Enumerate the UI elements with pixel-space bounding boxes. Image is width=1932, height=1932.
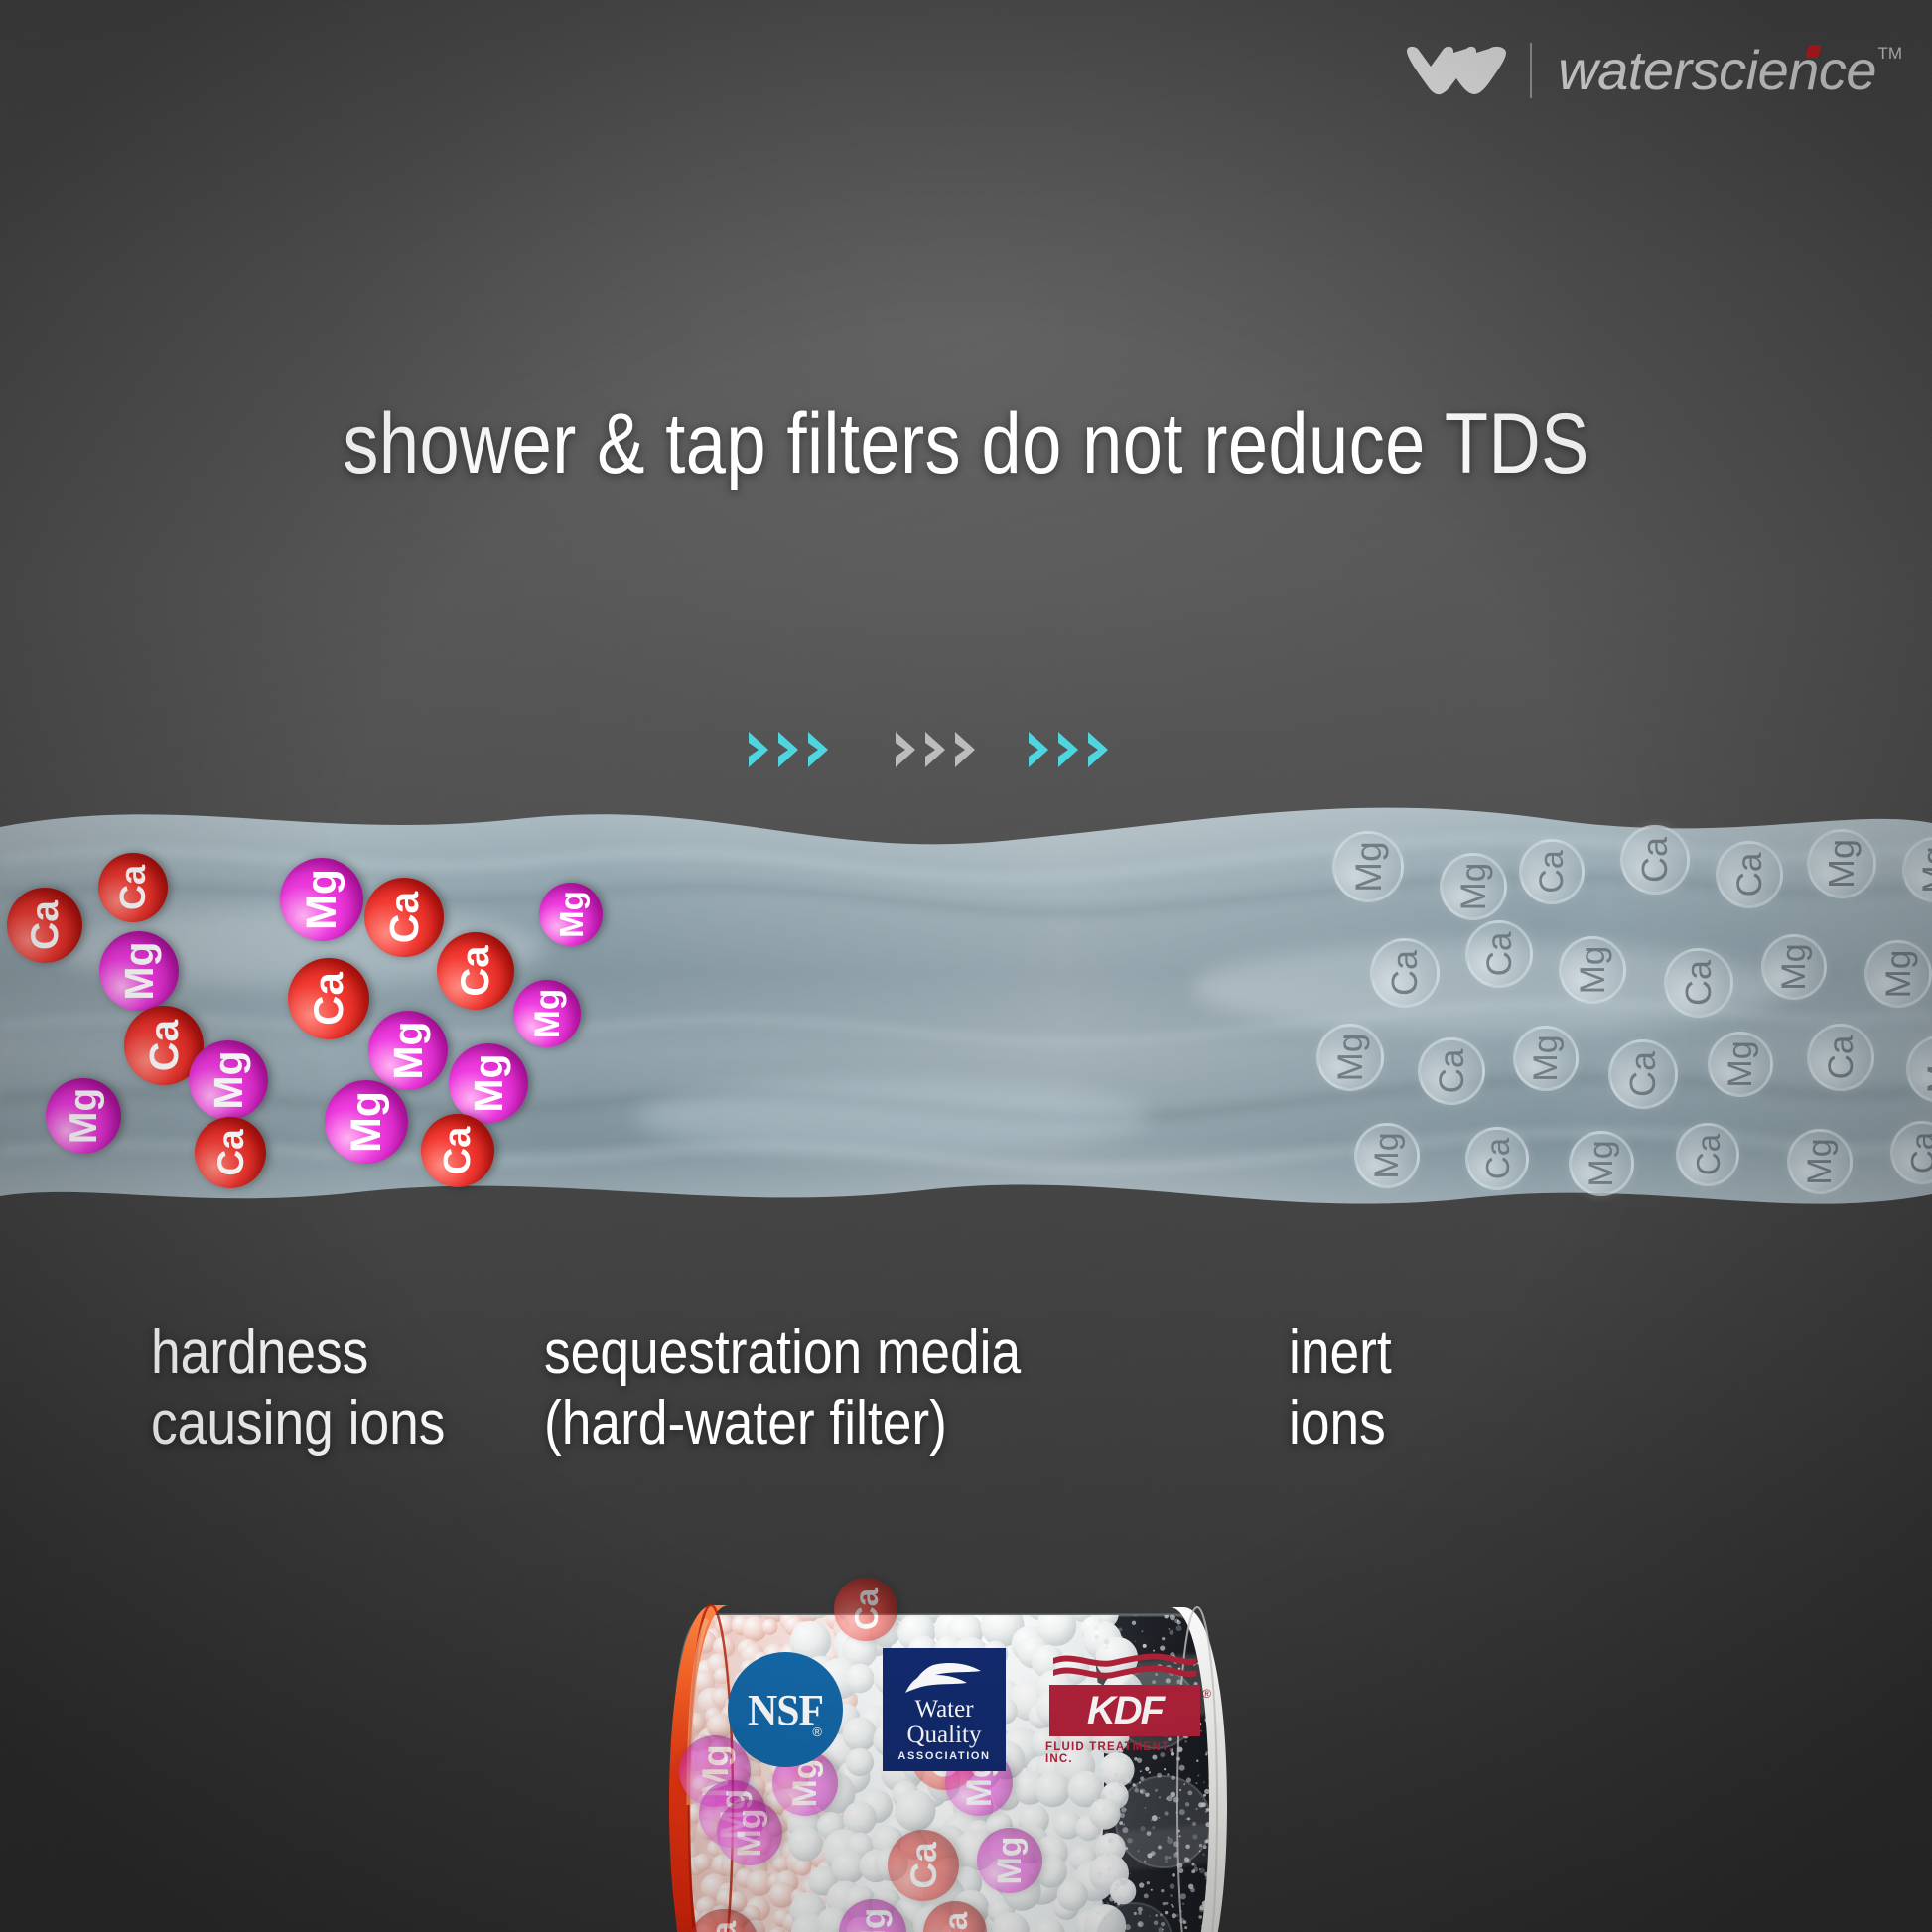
carbon-speck: [1243, 1863, 1245, 1864]
ion-label: Ca: [1824, 1035, 1859, 1080]
ion-ca-inert: Ca: [1608, 1039, 1678, 1109]
carbon-speck: [1121, 1636, 1123, 1638]
ion-label: Ca: [850, 1588, 883, 1630]
ion-label: Ca: [308, 972, 349, 1026]
ion-label: Mg: [1333, 1034, 1368, 1082]
carbon-speck: [1211, 1624, 1213, 1626]
carbon-speck: [1259, 1883, 1261, 1885]
ion-ca-ca: Ca: [288, 958, 369, 1039]
carbon-speck: [1195, 1782, 1197, 1784]
carbon-speck: [1104, 1639, 1110, 1645]
page-title: shower & tap filters do not reduce TDS: [155, 401, 1778, 486]
ion-ca-ca: Ca: [437, 932, 514, 1010]
chevron-group-outlet: [1027, 730, 1112, 769]
carbon-speck: [1240, 1847, 1245, 1852]
caption-hardness-line1: hardness: [151, 1318, 445, 1389]
carbon-speck: [1254, 1808, 1257, 1811]
carbon-speck: [1118, 1896, 1122, 1900]
carbon-speck: [1260, 1601, 1263, 1604]
filter-bead: [773, 1591, 800, 1594]
carbon-speck: [1130, 1873, 1131, 1874]
ion-label: Mg: [65, 1088, 103, 1144]
ion-label: Mg: [388, 1021, 429, 1079]
carbon-speck: [1120, 1880, 1126, 1886]
ion-label: Ca: [1625, 1051, 1661, 1097]
carbon-speck: [1109, 1896, 1114, 1901]
infographic-canvas: CaMgMgCaCaMgCaMgMgMgCaMgCaCaCaMgMg MgMgC…: [0, 0, 1932, 1932]
carbon-speck: [1132, 1596, 1138, 1602]
ion-label: Mg: [1456, 863, 1491, 911]
carbon-speck: [1230, 1863, 1233, 1866]
filter-bead: [962, 1591, 989, 1611]
kdf-registered-mark: ®: [1202, 1687, 1211, 1701]
kdf-logo-box: KDF ®: [1049, 1685, 1200, 1736]
ion-label: Ca: [905, 1842, 942, 1888]
ion-label: Mg: [1350, 841, 1387, 892]
certification-badges: NSF ® Water Quality ASSOCIATION KDF ® FL…: [0, 1648, 1932, 1771]
carbon-speck: [1172, 1873, 1175, 1877]
carbon-speck: [1232, 1850, 1237, 1855]
ion-ca-ca: Ca: [888, 1830, 959, 1901]
chevron-right-icon: [806, 730, 832, 769]
carbon-speck: [1238, 1821, 1240, 1823]
carbon-speck: [1198, 1915, 1202, 1919]
wqa-wave-icon: [905, 1661, 983, 1695]
carbon-speck: [1105, 1776, 1109, 1780]
filter-bead: [671, 1619, 687, 1635]
carbon-speck: [1259, 1929, 1261, 1931]
carbon-speck: [1259, 1860, 1263, 1865]
ion-mg-inert: Mg: [1864, 940, 1932, 1008]
ion-mg-inert: Mg: [1354, 1123, 1420, 1188]
ion-mg-mg: Mg: [46, 1078, 121, 1154]
filter-bead: [939, 1591, 969, 1614]
carbon-speck: [1094, 1635, 1098, 1639]
ion-label: Ca: [1481, 1138, 1514, 1179]
carbon-speck: [1092, 1819, 1097, 1824]
ion-mg-mg: Mg: [449, 1043, 528, 1123]
carbon-speck: [1155, 1604, 1160, 1609]
carbon-speck: [1234, 1883, 1237, 1886]
carbon-speck: [1240, 1623, 1243, 1626]
chevron-right-icon: [1027, 730, 1052, 769]
ion-label: Ca: [115, 865, 151, 910]
carbon-speck: [1236, 1634, 1240, 1638]
ion-label: Mg: [993, 1836, 1027, 1884]
carbon-speck: [1110, 1605, 1116, 1611]
carbon-speck: [1109, 1790, 1115, 1796]
carbon-speck: [1203, 1595, 1209, 1601]
carbon-speck: [1227, 1916, 1229, 1918]
carbon-speck: [1217, 1591, 1223, 1594]
filter-bead: [964, 1591, 993, 1595]
brand-wordmark: waterscience: [1558, 39, 1876, 101]
chevron-right-icon: [923, 730, 949, 769]
carbon-speck: [1243, 1640, 1245, 1642]
carbon-speck: [1234, 1801, 1236, 1803]
brand-trademark: TM: [1877, 45, 1902, 62]
carbon-speck: [1213, 1609, 1215, 1611]
carbon-speck: [1104, 1893, 1106, 1895]
carbon-speck: [1260, 1810, 1262, 1812]
chevron-right-icon: [1056, 730, 1082, 769]
carbon-speck: [1233, 1799, 1238, 1804]
carbon-speck: [1098, 1620, 1103, 1625]
filter-bead: [1108, 1591, 1138, 1595]
filter-bead: [761, 1619, 777, 1635]
carbon-speck: [1232, 1909, 1235, 1912]
carbon-speck: [1149, 1771, 1151, 1773]
caption-inert-line2: ions: [1289, 1389, 1392, 1459]
carbon-speck: [1150, 1598, 1152, 1600]
filter-bead: [705, 1591, 724, 1607]
kdf-badge[interactable]: KDF ® FLUID TREATMENT, INC.: [1045, 1652, 1204, 1767]
carbon-speck: [1121, 1871, 1124, 1874]
carbon-speck: [1197, 1774, 1199, 1776]
caption-hardness-line2: causing ions: [151, 1389, 445, 1459]
carbon-speck: [1106, 1902, 1108, 1904]
carbon-speck: [1203, 1782, 1205, 1784]
carbon-speck: [1227, 1611, 1233, 1617]
carbon-speck: [1240, 1591, 1244, 1593]
carbon-speck: [1218, 1591, 1221, 1593]
ion-label: Ca: [212, 1129, 249, 1175]
caption-media-line2: (hard-water filter): [544, 1389, 1021, 1459]
ion-ca-ca: Ca: [421, 1114, 494, 1187]
ion-label: Mg: [208, 1050, 249, 1109]
carbon-speck: [1180, 1893, 1186, 1899]
carbon-speck: [1107, 1876, 1109, 1878]
carbon-speck: [1161, 1889, 1164, 1892]
carbon-speck: [1182, 1903, 1184, 1905]
ion-ca-ca: Ca: [834, 1578, 897, 1641]
carbon-speck: [1097, 1887, 1101, 1891]
carbon-speck: [1114, 1888, 1117, 1891]
carbon-speck: [1227, 1813, 1232, 1818]
carbon-speck: [1186, 1599, 1191, 1604]
carbon-speck: [1115, 1883, 1120, 1888]
flow-direction-chevrons: [747, 730, 1183, 789]
filter-bead: [1032, 1591, 1067, 1597]
carbon-speck: [1101, 1794, 1107, 1800]
carbon-speck: [1244, 1820, 1247, 1823]
carbon-speck: [1150, 1600, 1156, 1606]
ion-ca-inert: Ca: [1519, 839, 1585, 904]
filter-bead: [668, 1591, 688, 1606]
carbon-speck: [1177, 1620, 1179, 1622]
carbon-speck: [1246, 1889, 1252, 1895]
carbon-speck: [1250, 1870, 1254, 1874]
carbon-speck: [1237, 1594, 1242, 1599]
brand-logo[interactable]: waterscience TM: [1405, 34, 1876, 107]
carbon-speck: [1190, 1888, 1195, 1893]
carbon-speck: [1114, 1876, 1116, 1878]
brand-wordmark-wrap: waterscience TM: [1558, 43, 1876, 98]
carbon-speck: [1117, 1599, 1122, 1604]
ion-label: Ca: [706, 1921, 742, 1932]
carbon-speck: [1231, 1642, 1235, 1646]
carbon-speck: [1163, 1902, 1166, 1905]
ion-ca-inert: Ca: [1620, 825, 1690, 895]
ion-label: Mg: [530, 989, 565, 1039]
carbon-speck: [1154, 1602, 1158, 1606]
ion-mg-mg: Mg: [977, 1828, 1042, 1893]
carbon-speck: [1176, 1625, 1182, 1631]
caption-hardness-ions: hardness causing ions: [151, 1318, 445, 1458]
ion-mg-mg: Mg: [539, 883, 603, 946]
ion-ca-ca: Ca: [7, 888, 82, 963]
ion-ca-inert: Ca: [1676, 1123, 1739, 1186]
carbon-speck: [1139, 1882, 1144, 1887]
caption-media-line1: sequestration media: [544, 1318, 1021, 1389]
carbon-speck: [1255, 1906, 1257, 1908]
carbon-speck: [1199, 1868, 1201, 1870]
carbon-speck: [1236, 1787, 1239, 1790]
carbon-speck: [1165, 1911, 1168, 1914]
carbon-speck: [1135, 1602, 1139, 1606]
carbon-speck: [1220, 1920, 1225, 1925]
filter-bead: [802, 1591, 830, 1597]
carbon-speck: [1144, 1599, 1149, 1604]
carbon-speck: [1244, 1785, 1247, 1788]
carbon-speck: [1128, 1592, 1134, 1598]
filter-bead: [755, 1591, 782, 1602]
ion-label: Mg: [119, 941, 160, 1000]
carbon-speck: [1204, 1591, 1210, 1597]
ion-ca-ca: Ca: [195, 1117, 266, 1188]
carbon-speck: [1100, 1824, 1106, 1830]
carbon-speck: [1191, 1869, 1195, 1873]
carbon-speck: [1231, 1774, 1235, 1778]
carbon-speck: [1228, 1865, 1230, 1867]
ion-mg-inert: Mg: [1440, 853, 1507, 920]
ion-label: Mg: [1824, 839, 1860, 889]
carbon-speck: [1231, 1909, 1237, 1915]
carbon-speck: [1114, 1901, 1116, 1903]
water-quality-association-badge[interactable]: Water Quality ASSOCIATION: [883, 1648, 1006, 1771]
carbon-speck: [1135, 1641, 1136, 1642]
nsf-registered-mark: ®: [812, 1725, 822, 1739]
chevron-right-icon: [1086, 730, 1112, 769]
carbon-speck: [1137, 1592, 1141, 1596]
ion-ca-inert: Ca: [1465, 1127, 1529, 1190]
ion-mg-inert: Mg: [1332, 831, 1404, 902]
ion-mg-mg: Mg: [513, 980, 581, 1047]
carbon-speck: [1211, 1613, 1216, 1618]
ion-label: Ca: [1535, 850, 1569, 893]
carbon-speck: [1166, 1902, 1169, 1905]
caption-inert-ions: inert ions: [1289, 1318, 1392, 1458]
ion-label: Mg: [1923, 1045, 1932, 1094]
carbon-speck: [1099, 1609, 1103, 1613]
ion-label: Ca: [1906, 1132, 1932, 1173]
carbon-speck: [1151, 1889, 1153, 1891]
ion-ca-ca: Ca: [364, 878, 444, 957]
filter-bead: [816, 1591, 835, 1607]
chevron-right-icon: [894, 730, 919, 769]
filter-bead: [1057, 1880, 1088, 1911]
carbon-speck: [1168, 1628, 1170, 1630]
ion-label: Ca: [439, 1127, 477, 1175]
carbon-speck: [1183, 1920, 1187, 1924]
ion-label: Ca: [456, 945, 495, 996]
ion-mg-inert: Mg: [1559, 936, 1626, 1004]
carbon-speck: [1093, 1901, 1096, 1904]
filter-bead: [929, 1591, 958, 1600]
carbon-speck: [1112, 1591, 1115, 1594]
carbon-speck: [1170, 1596, 1172, 1598]
carbon-speck: [1095, 1595, 1098, 1598]
filter-bead: [673, 1591, 696, 1598]
wqa-line1: Water: [914, 1698, 973, 1723]
filter-bead: [796, 1591, 822, 1610]
carbon-speck: [1170, 1883, 1175, 1889]
carbon-speck: [1256, 1852, 1260, 1856]
carbon-speck: [1259, 1800, 1262, 1803]
ion-label: Mg: [1724, 1040, 1757, 1087]
carbon-speck: [1246, 1867, 1248, 1869]
carbon-speck: [1147, 1881, 1150, 1884]
carbon-speck: [1246, 1623, 1248, 1625]
chevron-group-middle: [894, 730, 979, 769]
nsf-badge[interactable]: NSF ®: [728, 1652, 843, 1767]
carbon-speck: [1228, 1628, 1233, 1633]
ion-label: Ca: [1435, 1049, 1469, 1094]
filter-bead: [729, 1591, 747, 1593]
carbon-speck: [1170, 1630, 1174, 1635]
carbon-speck: [1092, 1779, 1096, 1783]
ion-mg-mg: Mg: [99, 931, 179, 1011]
carbon-speck: [1172, 1913, 1176, 1918]
carbon-speck: [1114, 1773, 1119, 1778]
ion-label: Ca: [144, 1020, 185, 1071]
ion-label: Mg: [1529, 1035, 1563, 1081]
ion-mg-mg: Mg: [189, 1040, 268, 1120]
ion-ca-inert: Ca: [1807, 1024, 1874, 1091]
carbon-speck: [1098, 1599, 1103, 1604]
kdf-subtitle: FLUID TREATMENT, INC.: [1045, 1741, 1204, 1765]
filter-bead: [667, 1926, 673, 1932]
ion-mg-inert: Mg: [1513, 1026, 1579, 1091]
filter-bead: [667, 1871, 670, 1897]
ion-mg-mg: Mg: [717, 1800, 782, 1865]
filter-bead: [667, 1845, 668, 1869]
carbon-speck: [1250, 1828, 1254, 1832]
filter-bead: [762, 1591, 786, 1613]
carbon-speck: [1261, 1811, 1263, 1814]
ion-label: Mg: [1918, 846, 1932, 893]
carbon-speck: [1169, 1607, 1171, 1609]
wqa-line2: Quality: [907, 1723, 982, 1747]
ion-label: Ca: [1387, 950, 1423, 996]
chevron-right-icon: [776, 730, 802, 769]
carbon-speck: [1097, 1912, 1099, 1914]
waterscience-w-icon: [1405, 45, 1508, 96]
carbon-speck: [1211, 1625, 1215, 1629]
ion-ca-ca: Ca: [98, 853, 168, 922]
ion-label: Ca: [384, 892, 425, 943]
ion-label: Mg: [1803, 1138, 1837, 1184]
filter-bead: [675, 1595, 694, 1614]
ion-label: Ca: [1681, 960, 1717, 1006]
carbon-speck: [1228, 1788, 1234, 1794]
ion-label: Ca: [1692, 1134, 1725, 1175]
ion-mg-inert: Mg: [1807, 829, 1876, 898]
filter-bead: [1000, 1591, 1042, 1601]
carbon-speck: [1252, 1808, 1255, 1811]
ion-label: Mg: [1585, 1140, 1618, 1186]
carbon-speck: [1251, 1835, 1253, 1837]
carbon-speck: [1244, 1906, 1248, 1910]
caption-inert-line1: inert: [1289, 1318, 1392, 1389]
filter-bead: [1035, 1772, 1070, 1807]
carbon-speck: [1196, 1600, 1200, 1604]
carbon-speck: [1157, 1605, 1161, 1609]
carbon-speck: [1226, 1919, 1228, 1921]
chevron-group-inlet: [747, 730, 832, 769]
carbon-speck: [1172, 1905, 1174, 1908]
carbon-speck: [1233, 1876, 1239, 1882]
ion-label: Mg: [1777, 943, 1811, 990]
carbon-speck: [1226, 1925, 1231, 1930]
ion-mg-inert: Mg: [1787, 1129, 1853, 1194]
carbon-speck: [1227, 1817, 1231, 1821]
filter-bead: [750, 1591, 766, 1600]
ion-mg-inert: Mg: [1316, 1024, 1384, 1091]
ion-label: Mg: [301, 869, 344, 930]
carbon-speck: [1125, 1778, 1130, 1783]
carbon-speck: [1197, 1601, 1202, 1606]
carbon-speck: [1145, 1895, 1146, 1896]
carbon-speck: [1199, 1905, 1204, 1910]
carbon-speck: [1098, 1901, 1104, 1907]
ion-label: Ca: [1732, 853, 1767, 897]
ion-mg-mg: Mg: [325, 1080, 408, 1164]
ion-label: Mg: [345, 1091, 388, 1153]
carbon-speck: [1257, 1873, 1261, 1877]
carbon-speck: [1257, 1643, 1261, 1647]
carbon-speck: [1257, 1600, 1259, 1602]
ion-ca-inert: Ca: [1716, 841, 1783, 908]
carbon-speck: [1096, 1890, 1098, 1892]
carbon-speck: [1094, 1797, 1098, 1801]
filter-bead: [971, 1591, 1014, 1613]
filter-bead: [667, 1628, 669, 1647]
carbon-speck: [1243, 1827, 1248, 1832]
carbon-speck: [1253, 1891, 1259, 1897]
ion-label: Mg: [1576, 946, 1610, 995]
filter-bead: [769, 1882, 795, 1908]
carbon-speck: [1162, 1637, 1165, 1640]
ion-label: Mg: [733, 1808, 766, 1857]
ion-label: Mg: [856, 1908, 891, 1932]
carbon-speck: [1254, 1824, 1258, 1828]
carbon-speck: [1205, 1594, 1209, 1598]
ion-label: Ca: [26, 900, 65, 950]
ion-mg-inert: Mg: [1708, 1032, 1773, 1097]
ion-label: Mg: [555, 891, 588, 938]
carbon-speck: [1103, 1809, 1105, 1811]
filter-bead: [735, 1591, 754, 1602]
caption-sequestration-media: sequestration media (hard-water filter): [544, 1318, 1021, 1458]
carbon-speck: [1170, 1894, 1173, 1897]
ion-label: Ca: [1482, 932, 1517, 977]
carbon-speck: [1256, 1640, 1259, 1643]
wqa-line3: ASSOCIATION: [897, 1750, 990, 1762]
carbon-speck: [1094, 1625, 1099, 1630]
carbon-speck: [1141, 1630, 1143, 1632]
ion-ca-inert: Ca: [1418, 1037, 1485, 1105]
